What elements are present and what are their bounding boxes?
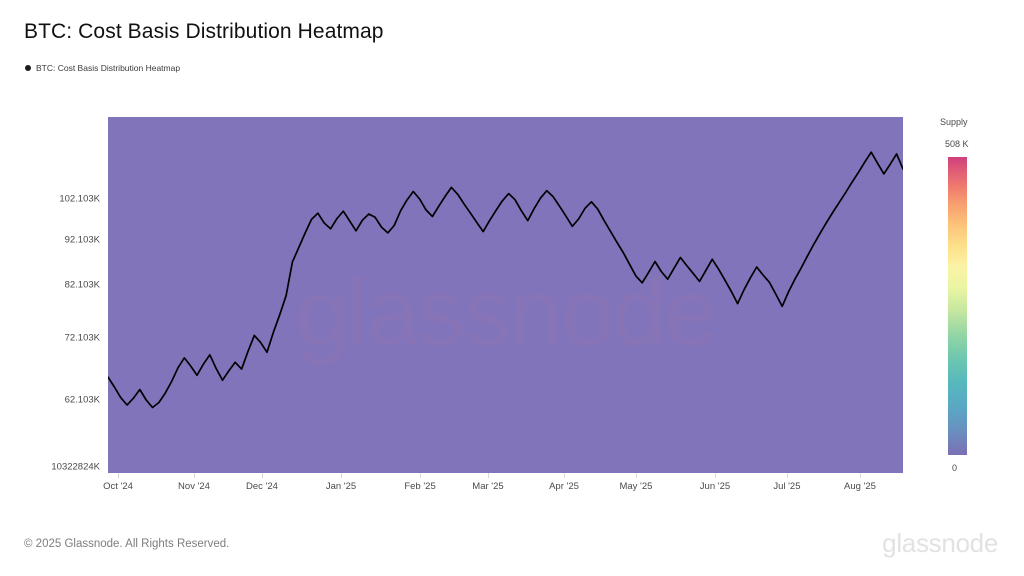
y-axis-tick-label: 82.103K xyxy=(65,280,100,291)
y-axis: 102.103K92.103K82.103K72.103K62.103K1032… xyxy=(0,117,100,473)
x-axis-tick-mark xyxy=(194,473,195,478)
x-axis: Oct '24Nov '24Dec '24Jan '25Feb '25Mar '… xyxy=(108,473,903,497)
x-axis-tick-label: May '25 xyxy=(619,481,652,492)
price-path xyxy=(108,152,903,407)
x-axis-tick-mark xyxy=(262,473,263,478)
x-axis-tick-mark xyxy=(715,473,716,478)
chart-page: BTC: Cost Basis Distribution Heatmap BTC… xyxy=(0,0,1024,576)
x-axis-tick-label: Jul '25 xyxy=(773,481,800,492)
price-line xyxy=(108,117,903,473)
x-axis-tick-label: Mar '25 xyxy=(472,481,503,492)
footer-logo: glassnode xyxy=(882,528,998,559)
x-axis-tick-label: Nov '24 xyxy=(178,481,210,492)
x-axis-tick-label: Aug '25 xyxy=(844,481,876,492)
y-axis-tick-label: 72.103K xyxy=(65,333,100,344)
y-axis-tick-label: 62.103K xyxy=(65,395,100,406)
x-axis-tick-mark xyxy=(860,473,861,478)
legend-marker-icon xyxy=(25,65,31,71)
page-title: BTC: Cost Basis Distribution Heatmap xyxy=(24,20,384,44)
x-axis-tick-mark xyxy=(636,473,637,478)
colorbar-min-label: 0 xyxy=(952,463,957,473)
x-axis-tick-mark xyxy=(787,473,788,478)
x-axis-tick-label: Oct '24 xyxy=(103,481,133,492)
colorbar-gradient xyxy=(948,157,967,455)
x-axis-tick-mark xyxy=(118,473,119,478)
y-axis-tick-label: 92.103K xyxy=(65,234,100,245)
colorbar: Supply 508 K 0 xyxy=(940,117,1024,487)
legend-series-label: BTC: Cost Basis Distribution Heatmap xyxy=(36,63,180,73)
colorbar-title: Supply xyxy=(940,117,968,127)
y-axis-tick-label: 102.103K xyxy=(59,193,100,204)
y-axis-tick-label: 10322824K xyxy=(51,461,100,472)
x-axis-tick-mark xyxy=(341,473,342,478)
x-axis-tick-label: Jan '25 xyxy=(326,481,356,492)
chart-legend: BTC: Cost Basis Distribution Heatmap xyxy=(25,63,180,73)
colorbar-max-label: 508 K xyxy=(945,139,969,149)
x-axis-tick-label: Jun '25 xyxy=(700,481,730,492)
x-axis-tick-label: Feb '25 xyxy=(404,481,435,492)
x-axis-tick-mark xyxy=(564,473,565,478)
x-axis-tick-mark xyxy=(420,473,421,478)
x-axis-tick-mark xyxy=(488,473,489,478)
x-axis-tick-label: Apr '25 xyxy=(549,481,579,492)
footer-copyright: © 2025 Glassnode. All Rights Reserved. xyxy=(24,538,229,550)
heatmap-plot-area[interactable]: glassnode xyxy=(108,117,903,473)
x-axis-tick-label: Dec '24 xyxy=(246,481,278,492)
